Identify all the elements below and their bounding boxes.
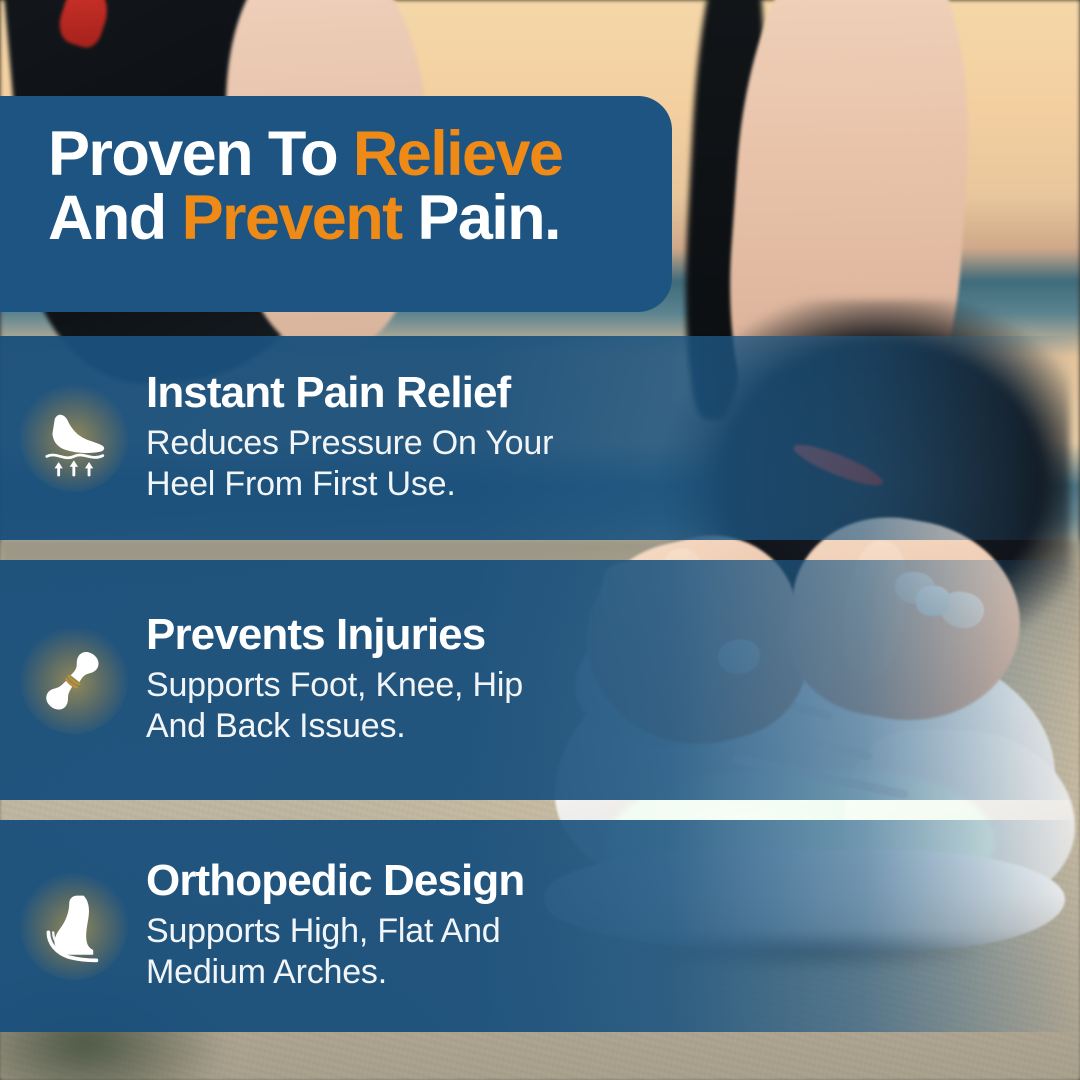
feature-desc-line2: And Back Issues.	[146, 707, 406, 745]
feature-text: Instant Pain Relief Reduces Pressure On …	[132, 370, 553, 506]
headline-line2-accent: Prevent	[182, 183, 402, 253]
feature-desc-line2: Heel From First Use.	[146, 465, 456, 503]
headline-line1-accent: Relieve	[353, 119, 562, 189]
feature-title: Instant Pain Relief	[146, 370, 553, 417]
feature-desc-line1: Supports High, Flat And	[146, 912, 501, 950]
feature-title: Orthopedic Design	[146, 858, 524, 905]
headline-line2-lead: And	[48, 183, 182, 253]
bone-joint-icon	[16, 622, 132, 738]
feature-item-instant-pain-relief: Instant Pain Relief Reduces Pressure On …	[0, 336, 1080, 540]
headline-line1-lead: Proven To	[48, 119, 353, 189]
feature-item-prevents-injuries: Prevents Injuries Supports Foot, Knee, H…	[0, 560, 1080, 800]
feature-description: Supports High, Flat And Medium Arches.	[146, 911, 524, 995]
feature-text: Orthopedic Design Supports High, Flat An…	[132, 858, 524, 994]
feature-desc-line2: Medium Arches.	[146, 953, 387, 991]
arch-support-foot-icon	[16, 868, 132, 984]
feature-desc-line1: Reduces Pressure On Your	[146, 424, 553, 462]
headline-line2-tail: Pain.	[402, 183, 560, 253]
feature-title: Prevents Injuries	[146, 612, 523, 659]
ad-creative: Proven To Relieve And Prevent Pain.	[0, 0, 1080, 1080]
heel-cushion-icon	[16, 380, 132, 496]
page-title: Proven To Relieve And Prevent Pain.	[48, 122, 672, 251]
feature-description: Reduces Pressure On Your Heel From First…	[146, 423, 553, 507]
feature-item-orthopedic-design: Orthopedic Design Supports High, Flat An…	[0, 820, 1080, 1032]
feature-text: Prevents Injuries Supports Foot, Knee, H…	[132, 612, 523, 748]
feature-description: Supports Foot, Knee, Hip And Back Issues…	[146, 665, 523, 749]
feature-desc-line1: Supports Foot, Knee, Hip	[146, 666, 523, 704]
headline-panel: Proven To Relieve And Prevent Pain.	[0, 96, 672, 312]
